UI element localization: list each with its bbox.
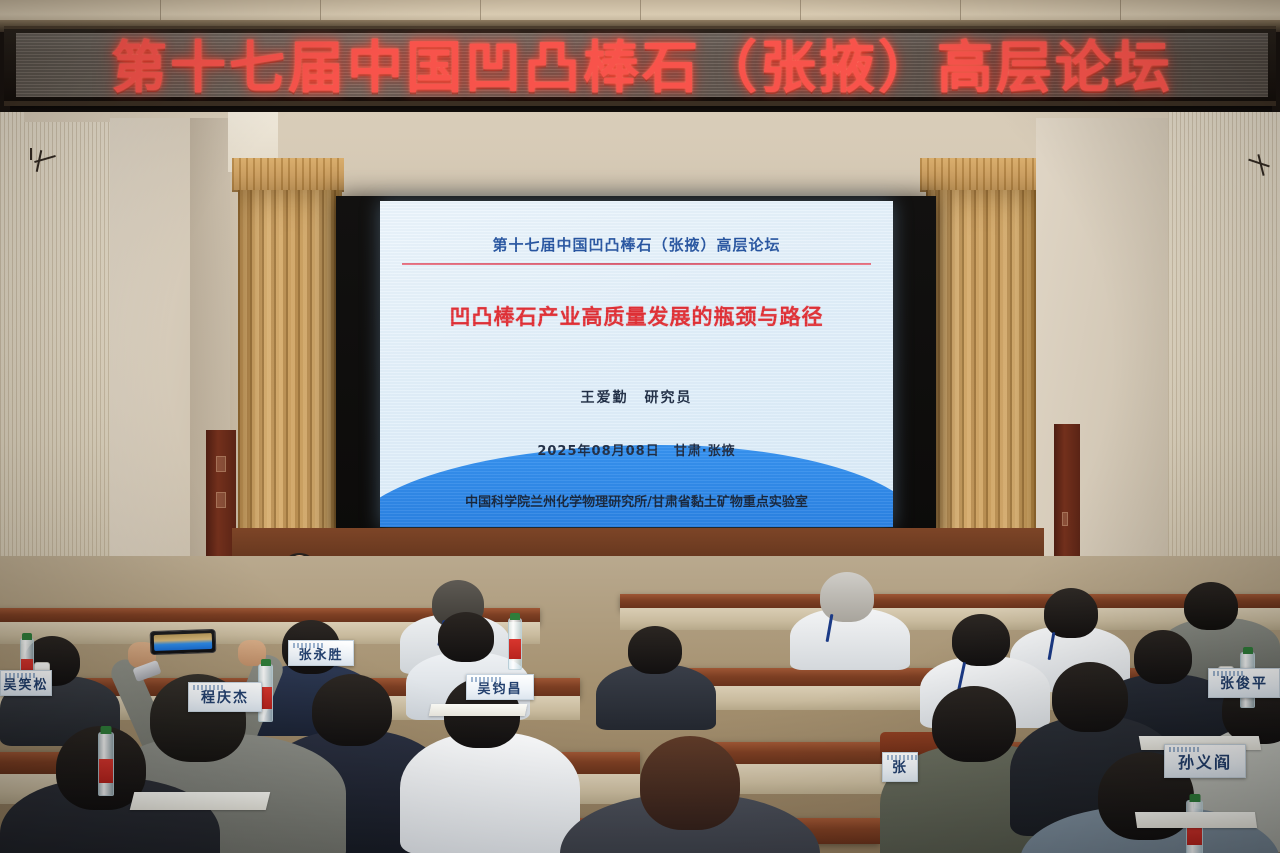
placard-name-text: 张俊平 bbox=[1220, 673, 1268, 693]
led-panel: 第十七届中国凹凸棒石（张掖）高层论坛 bbox=[16, 33, 1268, 97]
attendee-head-f4 bbox=[1052, 662, 1128, 732]
presentation-slide: 第十七届中国凹凸棒石（张掖）高层论坛 凹凸棒石产业高质量发展的瓶颈与路径 王爱勤… bbox=[380, 201, 893, 527]
bottle-cap-5 bbox=[1243, 647, 1253, 654]
placard-logo bbox=[1169, 747, 1199, 752]
water-bottle-3 bbox=[508, 618, 522, 670]
attendee-head-b4 bbox=[1184, 582, 1238, 630]
placard-name-text: 程庆杰 bbox=[201, 687, 249, 707]
curtain-left bbox=[238, 190, 342, 582]
wall-slat-far-left bbox=[0, 112, 24, 582]
handout-papers-2 bbox=[429, 704, 528, 716]
led-banner-text: 第十七届中国凹凸棒石（张掖）高层论坛 bbox=[16, 26, 1268, 104]
bottle-cap-2 bbox=[261, 659, 271, 666]
projection-screen-housing: 第十七届中国凹凸棒石（张掖）高层论坛 凹凸棒石产业高质量发展的瓶颈与路径 王爱勤… bbox=[336, 196, 936, 546]
placard-logo bbox=[1213, 671, 1243, 676]
attendee-torso-f2 bbox=[400, 732, 580, 853]
door-panel-upper bbox=[216, 456, 226, 472]
curtain-pelmet-left bbox=[232, 158, 344, 192]
photographer-phone[interactable] bbox=[150, 629, 217, 655]
attendee-head-m4 bbox=[952, 614, 1010, 666]
curtain-right bbox=[926, 190, 1038, 582]
slide-divider bbox=[402, 263, 871, 265]
attendee-head-m2 bbox=[438, 612, 494, 662]
water-bottle-1 bbox=[98, 732, 114, 796]
bottle-cap-3 bbox=[510, 613, 520, 620]
door-handle-right bbox=[1062, 512, 1068, 526]
speaker-bracket-right-icon bbox=[1246, 152, 1276, 186]
slide-date-location-text: 2025年08月08日 甘肃·张掖 bbox=[380, 440, 893, 459]
name-placard: 张永胜 bbox=[288, 640, 354, 666]
name-placard: 孙义阎 bbox=[1164, 744, 1246, 778]
wall-slat-left bbox=[24, 122, 110, 582]
attendee-head-f1 bbox=[312, 674, 392, 746]
attendee-head-m3 bbox=[628, 626, 682, 674]
phone-screen bbox=[154, 633, 213, 651]
bottle-cap-4 bbox=[22, 633, 32, 640]
bottle-cap-6 bbox=[1189, 794, 1200, 802]
name-placard: 张 bbox=[882, 752, 918, 782]
door-panel-lower bbox=[216, 492, 226, 508]
handout-papers-1 bbox=[130, 792, 270, 810]
curtain-pelmet-right bbox=[920, 158, 1042, 192]
placard-logo bbox=[471, 677, 501, 682]
bottle-label-1 bbox=[99, 759, 113, 783]
slide-header-text: 第十七届中国凹凸棒石（张掖）高层论坛 bbox=[380, 234, 893, 255]
conference-hall-photo: 第十七届中国凹凸棒石（张掖）高层论坛 bbox=[0, 0, 1280, 853]
bottle-label-3 bbox=[509, 639, 521, 659]
placard-logo bbox=[293, 643, 323, 648]
speaker-bracket-left-icon bbox=[28, 146, 62, 180]
placard-name-text: 孙义阎 bbox=[1178, 749, 1232, 773]
led-banner: 第十七届中国凹凸棒石（张掖）高层论坛 bbox=[4, 26, 1276, 106]
name-placard: 程庆杰 bbox=[188, 682, 262, 712]
slide-affiliation-text: 中国科学院兰州化学物理研究所/甘肃省黏土矿物重点实验室 bbox=[380, 491, 893, 510]
slide-speaker-text: 王爱勤 研究员 bbox=[380, 387, 893, 407]
attendee-head-m5 bbox=[1134, 630, 1192, 684]
attendee-head-b2 bbox=[820, 572, 874, 622]
placard-logo bbox=[5, 673, 35, 678]
name-placard: 吴钧昌 bbox=[466, 674, 534, 700]
bottle-cap-1 bbox=[101, 726, 112, 734]
attendee-head-b3 bbox=[1044, 588, 1098, 638]
handout-papers-4 bbox=[1135, 812, 1257, 828]
name-placard: 吴笑松 bbox=[0, 670, 52, 696]
attendee-head-n1 bbox=[640, 736, 740, 830]
placard-name-text: 张 bbox=[892, 757, 908, 777]
room-interior: 第十七届中国凹凸棒石（张掖）高层论坛 凹凸棒石产业高质量发展的瓶颈与路径 王爱勤… bbox=[0, 112, 1280, 582]
slide-title-text: 凹凸棒石产业高质量发展的瓶颈与路径 bbox=[380, 301, 893, 331]
placard-logo bbox=[193, 685, 223, 690]
attendee-head-f3 bbox=[932, 686, 1016, 762]
name-placard: 张俊平 bbox=[1208, 668, 1280, 698]
placard-logo bbox=[887, 755, 917, 760]
